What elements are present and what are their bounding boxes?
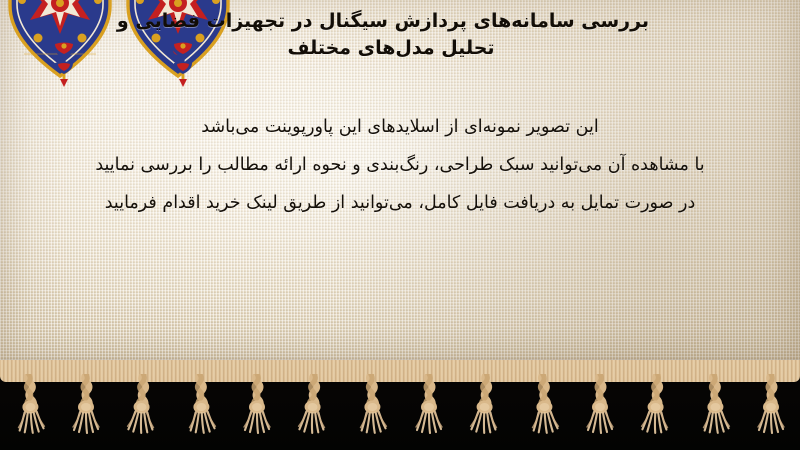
slide-title: بررسی سامانه‌های پردازش سیگنال در تجهیزا… [0, 8, 800, 62]
carpet-selvedge-edge [0, 360, 800, 382]
title-line-2: تحلیل مدل‌های مختلف [18, 35, 764, 62]
body-line-3: در صورت تمایل به دریافت فایل کامل، می‌تو… [22, 184, 778, 222]
body-line-2: با مشاهده آن می‌توانید سبک طراحی، رنگ‌بن… [22, 146, 778, 184]
body-line-1: این تصویر نمونه‌ای از اسلایدهای این پاور… [22, 108, 778, 146]
slide-body: این تصویر نمونه‌ای از اسلایدهای این پاور… [0, 108, 800, 222]
slide-canvas: بررسی سامانه‌های پردازش سیگنال در تجهیزا… [0, 0, 800, 450]
title-line-1: بررسی سامانه‌های پردازش سیگنال در تجهیزا… [18, 8, 748, 35]
